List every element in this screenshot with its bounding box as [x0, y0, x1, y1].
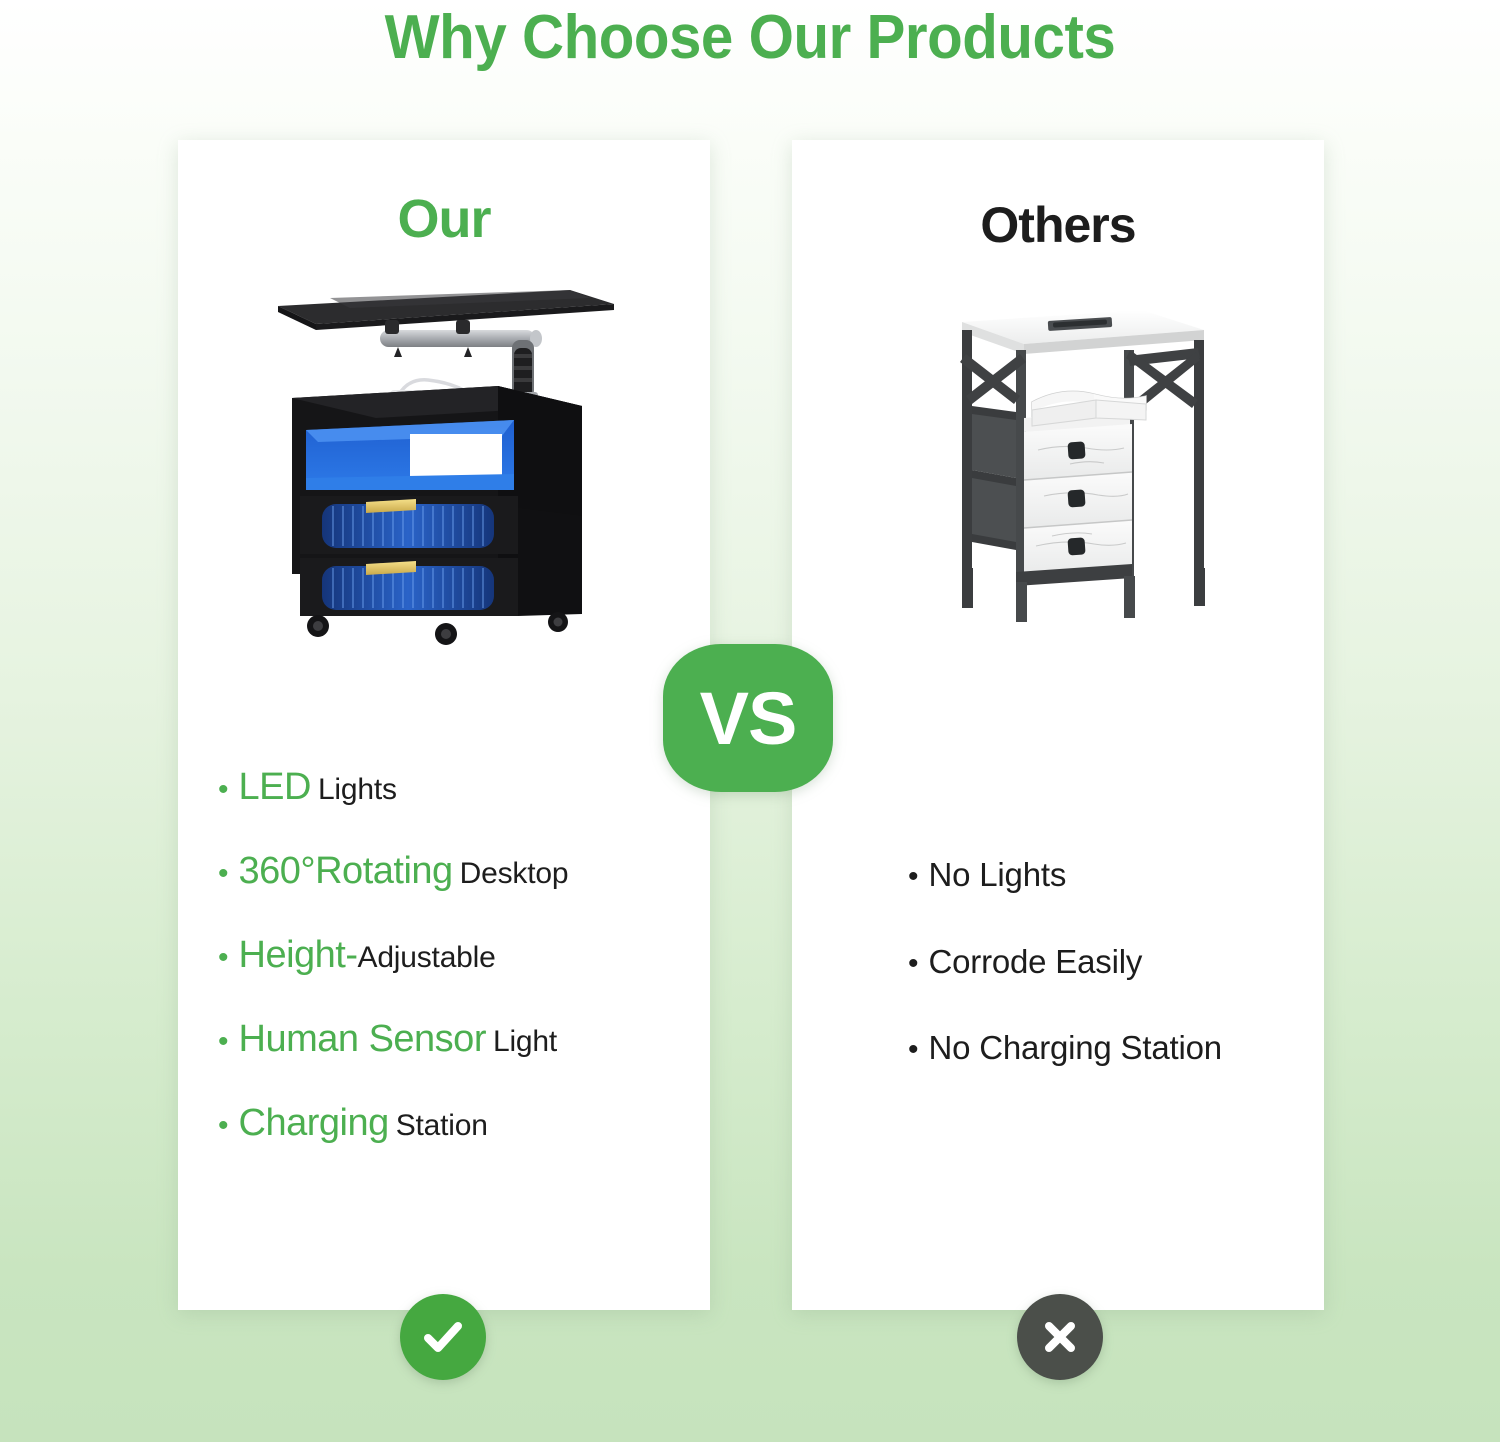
feature-item: • 360°Rotating Desktop: [218, 852, 698, 892]
feature-item: • No Charging Station: [908, 1031, 1338, 1066]
page-title: Why Choose Our Products: [45, 2, 1455, 73]
feature-item: • Height- Adjustable: [218, 936, 698, 976]
feature-text: No Charging Station: [929, 1031, 1222, 1066]
product-image-our: [270, 278, 620, 648]
feature-highlight: 360°Rotating: [239, 852, 453, 892]
bullet-icon: •: [908, 949, 919, 979]
feature-rest: Adjustable: [358, 942, 496, 974]
feature-highlight: Charging: [239, 1104, 389, 1144]
bullet-icon: •: [218, 859, 229, 889]
column-heading-others: Others: [792, 196, 1324, 254]
feature-item: • Corrode Easily: [908, 945, 1338, 980]
bullet-icon: •: [908, 862, 919, 892]
feature-text: No Lights: [929, 858, 1067, 893]
feature-rest: Desktop: [460, 858, 569, 890]
black-lift-top-nightstand-icon: [270, 278, 620, 648]
feature-item: • No Lights: [908, 858, 1338, 893]
feature-item: • Human Sensor Light: [218, 1020, 698, 1060]
vs-label: VS: [700, 676, 797, 761]
feature-rest: Light: [493, 1026, 557, 1058]
bullet-icon: •: [218, 943, 229, 973]
bullet-icon: •: [908, 1035, 919, 1065]
cross-icon: [1037, 1314, 1083, 1360]
feature-highlight: Height-: [239, 936, 358, 976]
feature-list-others: • No Lights • Corrode Easily • No Chargi…: [908, 858, 1338, 1118]
feature-text: Corrode Easily: [929, 945, 1143, 980]
verdict-badge-our: [400, 1294, 486, 1380]
bullet-icon: •: [218, 1027, 229, 1057]
bullet-icon: •: [218, 1111, 229, 1141]
feature-rest: Station: [396, 1110, 488, 1142]
feature-item: • Charging Station: [218, 1104, 698, 1144]
check-icon: [418, 1312, 468, 1362]
vs-badge: VS: [663, 644, 833, 792]
feature-item: • LED Lights: [218, 768, 698, 808]
feature-rest: Lights: [318, 774, 397, 806]
feature-highlight: LED: [239, 768, 311, 808]
feature-list-our: • LED Lights • 360°Rotating Desktop • He…: [218, 768, 698, 1187]
verdict-badge-others: [1017, 1294, 1103, 1380]
feature-highlight: Human Sensor: [239, 1020, 486, 1060]
product-image-others: [920, 300, 1240, 630]
white-rustic-nightstand-icon: [920, 300, 1240, 630]
column-heading-our: Our: [178, 188, 710, 250]
bullet-icon: •: [218, 775, 229, 805]
